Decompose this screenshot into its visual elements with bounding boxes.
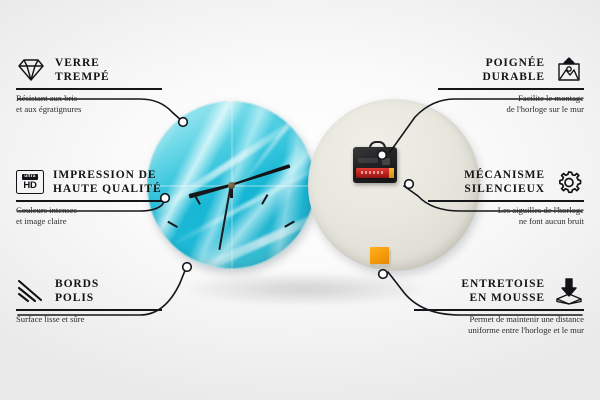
feature-title-line2: EN MOUSSE bbox=[461, 291, 545, 305]
feature-header: BORDS POLIS bbox=[16, 277, 162, 305]
hd-badge-main-label: HD bbox=[23, 181, 36, 191]
clock-mechanism bbox=[353, 141, 397, 185]
feature-description: Surface lisse et sûre bbox=[16, 314, 162, 326]
mechanism-detail bbox=[358, 158, 378, 163]
feature-title: ENTRETOISE EN MOUSSE bbox=[461, 277, 545, 305]
feature-title: IMPRESSION DE HAUTE QUALITÉ bbox=[53, 168, 162, 196]
battery-label bbox=[361, 171, 385, 174]
feature-title-line2: DURABLE bbox=[482, 70, 545, 84]
feature-title-line2: TREMPÉ bbox=[55, 70, 110, 84]
feature-rule bbox=[428, 200, 584, 202]
mechanism-detail bbox=[382, 158, 390, 165]
feature-header: MÉCANISME SILENCIEUX bbox=[428, 168, 584, 196]
feature-title: BORDS POLIS bbox=[55, 277, 99, 305]
connector-dot-entretoise bbox=[379, 270, 388, 279]
diamond-icon bbox=[16, 57, 46, 83]
feature-description: Couleurs intenses et image claire bbox=[16, 205, 162, 228]
feature-title-line1: POIGNÉE bbox=[482, 56, 545, 70]
ultra-hd-badge-icon: ultra HD bbox=[16, 170, 44, 194]
feature-impression-haute-qualite: ultra HD IMPRESSION DE HAUTE QUALITÉ Cou… bbox=[16, 168, 162, 228]
gear-icon bbox=[554, 169, 584, 196]
feature-title-line1: IMPRESSION DE bbox=[53, 168, 162, 182]
feature-entretoise-en-mousse: ENTRETOISE EN MOUSSE Permet de maintenir… bbox=[414, 277, 584, 337]
feature-description: Les aiguilles de l'horloge ne font aucun… bbox=[428, 205, 584, 228]
product-infographic: VERRE TREMPÉ Résistant aux bris et aux é… bbox=[0, 0, 600, 400]
feature-verre-trempe: VERRE TREMPÉ Résistant aux bris et aux é… bbox=[16, 56, 162, 116]
feature-rule bbox=[16, 88, 162, 90]
feature-header: POIGNÉE DURABLE bbox=[438, 56, 584, 84]
clock-rim bbox=[147, 101, 315, 269]
feature-title: MÉCANISME SILENCIEUX bbox=[464, 168, 545, 196]
feature-bords-polis: BORDS POLIS Surface lisse et sûre bbox=[16, 277, 162, 325]
feature-poignee-durable: POIGNÉE DURABLE Facilite le montage de l… bbox=[438, 56, 584, 116]
feature-title: VERRE TREMPÉ bbox=[55, 56, 110, 84]
feature-description: Permet de maintenir une distance uniform… bbox=[414, 314, 584, 337]
feature-description: Facilite le montage de l'horloge sur le … bbox=[438, 93, 584, 116]
hanging-frame-icon bbox=[554, 57, 584, 83]
feature-title: POIGNÉE DURABLE bbox=[482, 56, 545, 84]
feature-title-line2: POLIS bbox=[55, 291, 99, 305]
hd-badge-ultra-label: ultra bbox=[22, 174, 37, 180]
feature-header: ultra HD IMPRESSION DE HAUTE QUALITÉ bbox=[16, 168, 162, 196]
feature-rule bbox=[16, 309, 162, 311]
feature-title-line1: BORDS bbox=[55, 277, 99, 291]
feature-title-line1: VERRE bbox=[55, 56, 110, 70]
feature-rule bbox=[438, 88, 584, 90]
clock-tick bbox=[158, 257, 171, 260]
diagonal-lines-icon bbox=[16, 278, 46, 304]
feature-title-line2: SILENCIEUX bbox=[464, 182, 545, 196]
feature-title-line1: ENTRETOISE bbox=[461, 277, 545, 291]
feature-title-line1: MÉCANISME bbox=[464, 168, 545, 182]
feature-mecanisme-silencieux: MÉCANISME SILENCIEUX Les aiguilles de l'… bbox=[428, 168, 584, 228]
clock-tick bbox=[291, 257, 304, 260]
feature-rule bbox=[16, 200, 162, 202]
foam-spacer bbox=[370, 247, 389, 264]
feature-header: ENTRETOISE EN MOUSSE bbox=[414, 277, 584, 305]
feature-header: VERRE TREMPÉ bbox=[16, 56, 162, 84]
feature-description: Résistant aux bris et aux égratignures bbox=[16, 93, 162, 116]
clock-front-face[interactable] bbox=[147, 101, 315, 269]
feature-rule bbox=[414, 309, 584, 311]
battery bbox=[356, 168, 394, 178]
feature-title-line2: HAUTE QUALITÉ bbox=[53, 182, 162, 196]
arrow-onto-layer-icon bbox=[554, 278, 584, 305]
battery-positive-tip bbox=[389, 168, 394, 178]
